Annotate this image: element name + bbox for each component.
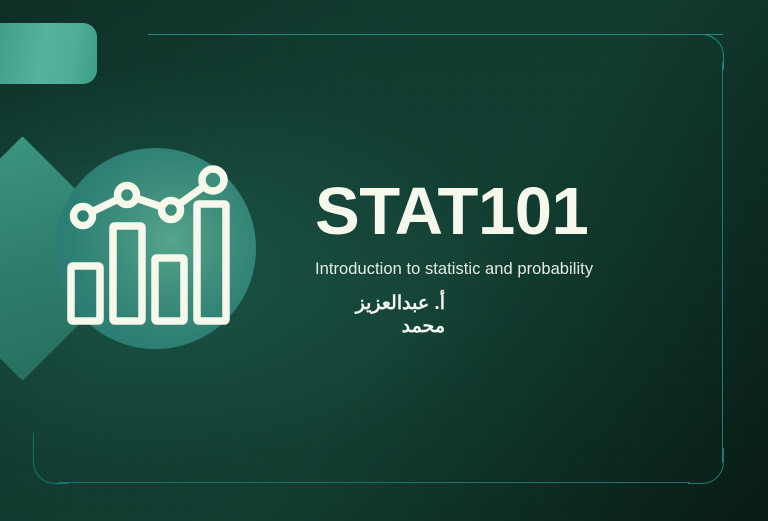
- course-logo: [55, 148, 256, 370]
- decorative-tab: [0, 23, 97, 84]
- frame-left-border: [33, 433, 34, 459]
- instructor-name: أ. عبدالعزيز محمد: [315, 292, 445, 338]
- frame-corner-bottom-right: [688, 448, 724, 484]
- frame-corner-top-right: [688, 34, 724, 70]
- course-subtitle: Introduction to statistic and probabilit…: [315, 260, 735, 279]
- frame-top-border: [148, 34, 723, 35]
- frame-corner-bottom-left: [33, 448, 69, 484]
- course-text-block: STAT101 Introduction to statistic and pr…: [315, 178, 735, 338]
- course-code-title: STAT101: [315, 178, 735, 246]
- statistics-chart-icon: [55, 148, 256, 349]
- frame-bottom-border: [58, 482, 690, 483]
- title-slide: STAT101 Introduction to statistic and pr…: [0, 0, 768, 521]
